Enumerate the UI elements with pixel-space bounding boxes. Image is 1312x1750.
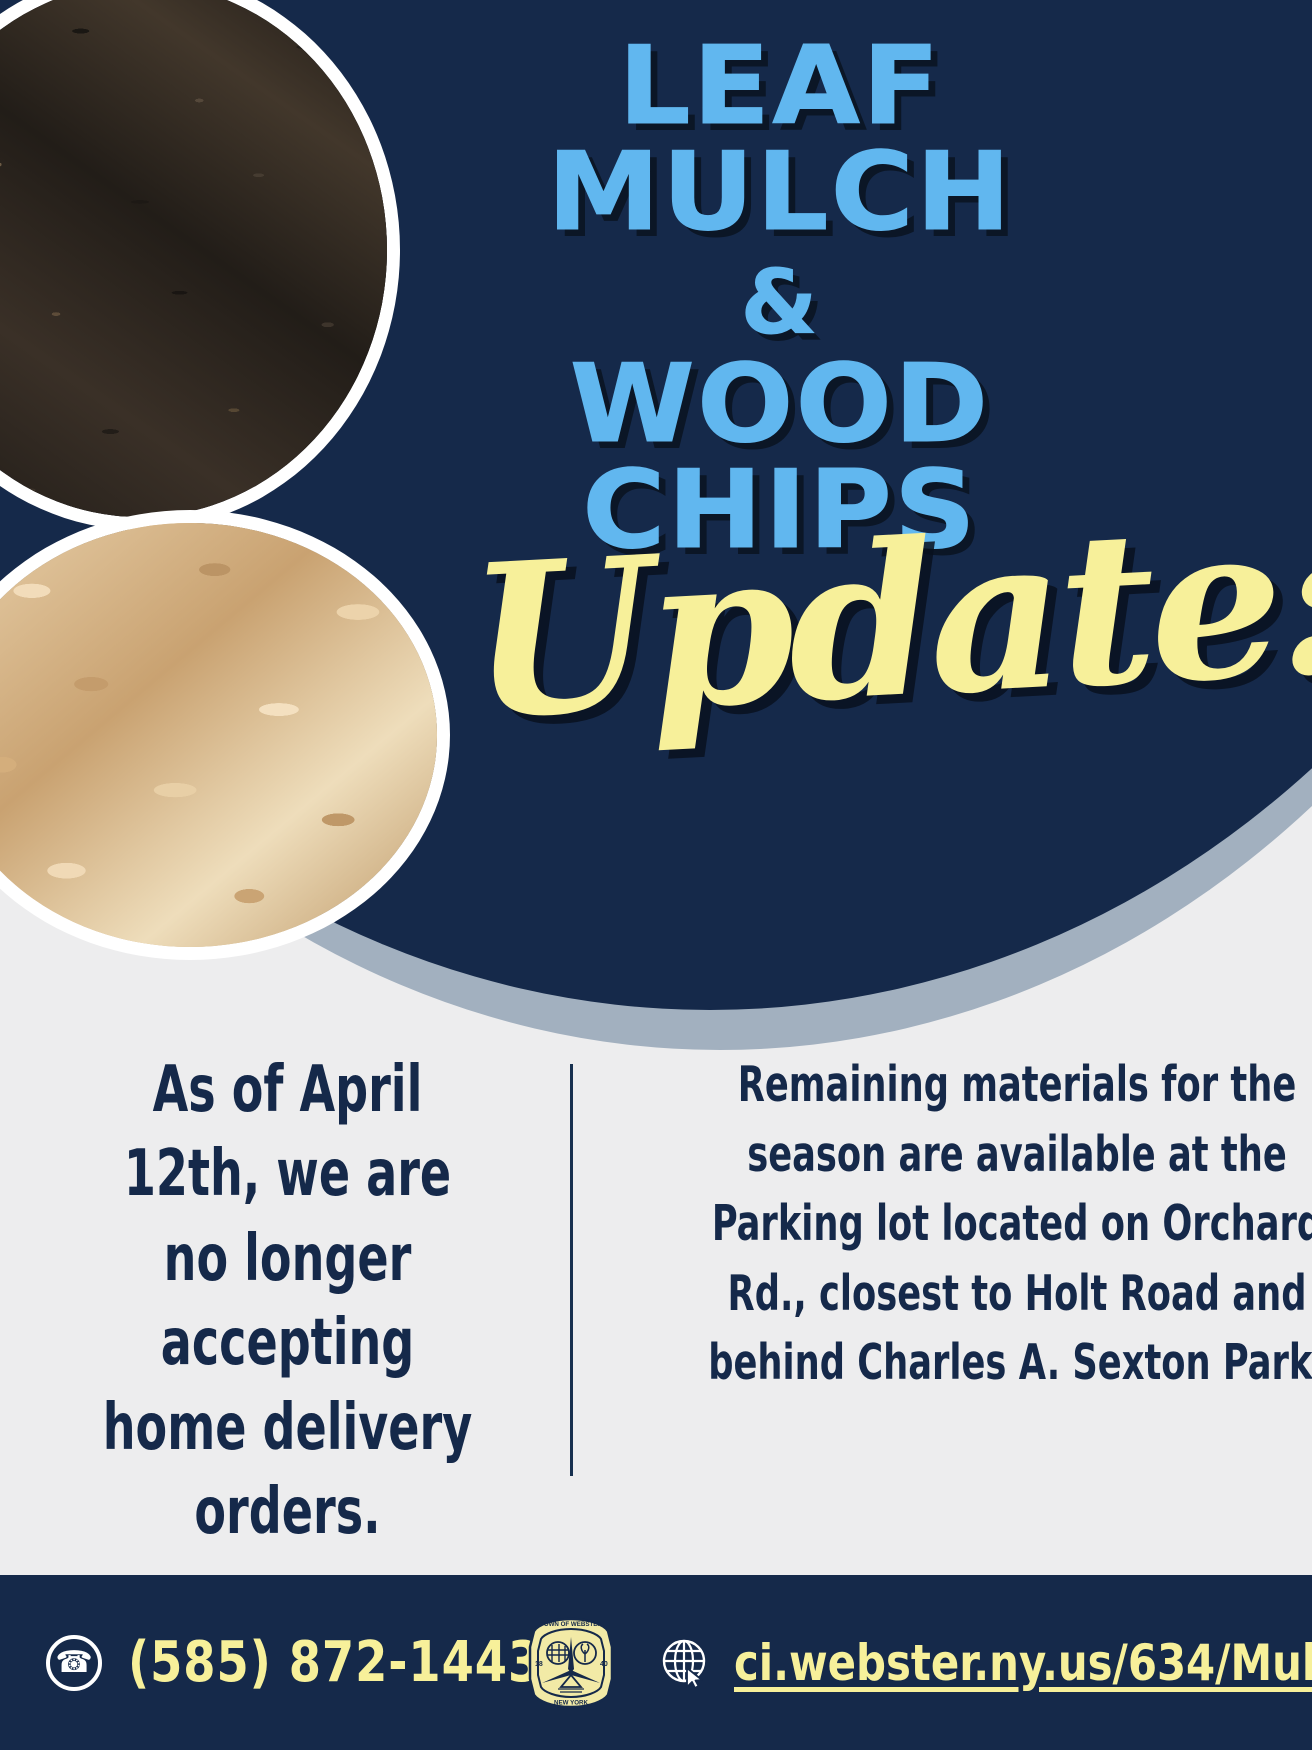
pickup-location-text: Remaining materials for the season are a… [697, 1050, 1312, 1398]
headline-block: LEAF MULCH & WOOD CHIPS [400, 34, 1160, 564]
left-column: As of April 12th, we are no longer accep… [0, 1040, 570, 1490]
headline-line-1: LEAF MULCH [381, 34, 1179, 246]
flyer-poster: LEAF MULCH & WOOD CHIPS Update: As of Ap… [0, 0, 1312, 1750]
phone-contact[interactable]: ☎ (585) 872-1443 [46, 1630, 516, 1695]
svg-text:TOWN OF WEBSTER: TOWN OF WEBSTER [540, 1621, 602, 1628]
globe-icon [660, 1637, 712, 1689]
update-script-word: Update: [465, 502, 1175, 748]
town-of-webster-seal: TOWN OF WEBSTER NEW YORK 18 40 [528, 1617, 614, 1709]
right-column: Remaining materials for the season are a… [573, 1040, 1312, 1490]
wood-chips-photo [0, 510, 450, 960]
leaf-mulch-photo [0, 0, 400, 530]
svg-text:NEW YORK: NEW YORK [554, 1699, 588, 1706]
leaf-mulch-texture [0, 0, 387, 517]
delivery-notice-text: As of April 12th, we are no longer accep… [94, 1048, 482, 1555]
website-contact[interactable]: ci.webster.ny.us/634/Mulch [660, 1634, 1312, 1692]
wood-chips-texture [0, 523, 437, 947]
body-section: As of April 12th, we are no longer accep… [0, 1040, 1312, 1490]
phone-icon: ☎ [46, 1635, 102, 1691]
svg-text:40: 40 [600, 1661, 608, 1668]
footer-bar: ☎ (585) 872-1443 TOWN OF WEBSTER NEW YOR… [0, 1575, 1312, 1750]
phone-number: (585) 872-1443 [128, 1630, 541, 1695]
svg-text:18: 18 [535, 1661, 543, 1668]
headline-ampersand: & [400, 260, 1160, 346]
website-url[interactable]: ci.webster.ny.us/634/Mulch [734, 1634, 1312, 1692]
